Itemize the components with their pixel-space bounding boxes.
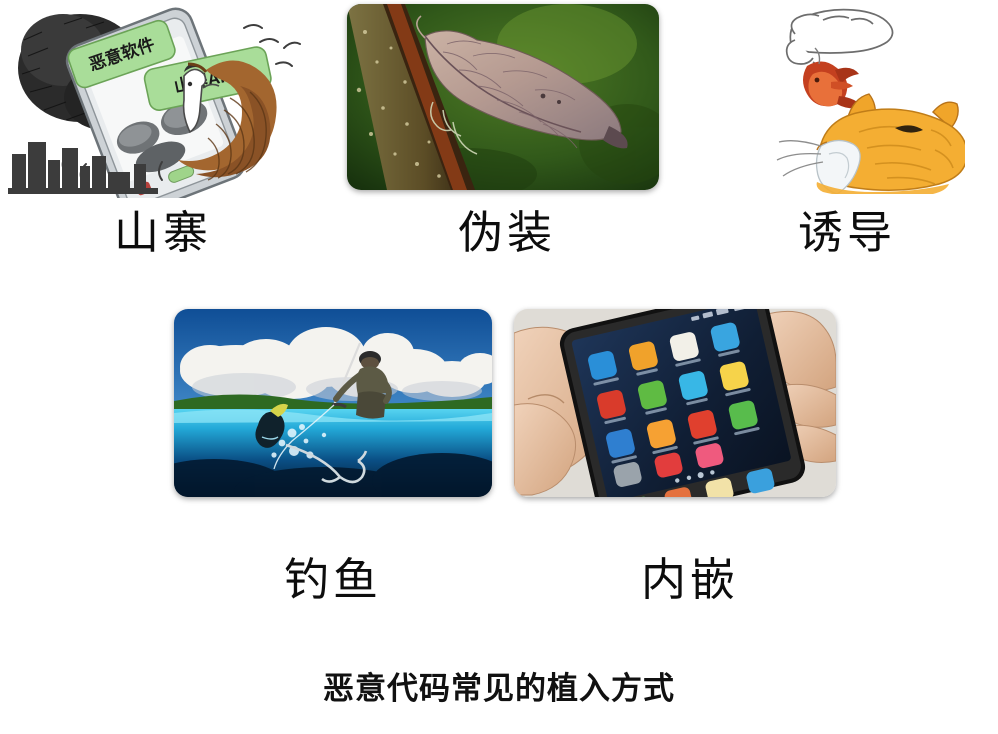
photo-leaf-butterfly [347,4,659,190]
label-diaoyu: 钓鱼 [228,555,438,605]
illustration-cat-fish [735,4,965,194]
illustration-shanzhai: 恶意软件 山寨APP [8,2,320,198]
label-neiqian: 内嵌 [585,555,795,605]
label-youdao: 诱导 [742,208,952,258]
hand-smartphone-artwork [514,309,836,497]
cat-fish-artwork [735,4,965,194]
leaf-butterfly-artwork [347,4,659,190]
photo-fishing-hook [174,309,492,497]
slide-caption: 恶意代码常见的植入方式 [0,663,998,708]
label-shanzhai: 山寨 [58,208,268,258]
slide-canvas: 恶意软件 山寨APP [0,0,998,734]
photo-hand-smartphone [514,309,836,497]
fishing-artwork [174,309,492,497]
label-weizhuang: 伪装 [402,208,612,258]
shanzhai-artwork: 恶意软件 山寨APP [8,2,320,198]
smartphone-body [557,309,812,497]
